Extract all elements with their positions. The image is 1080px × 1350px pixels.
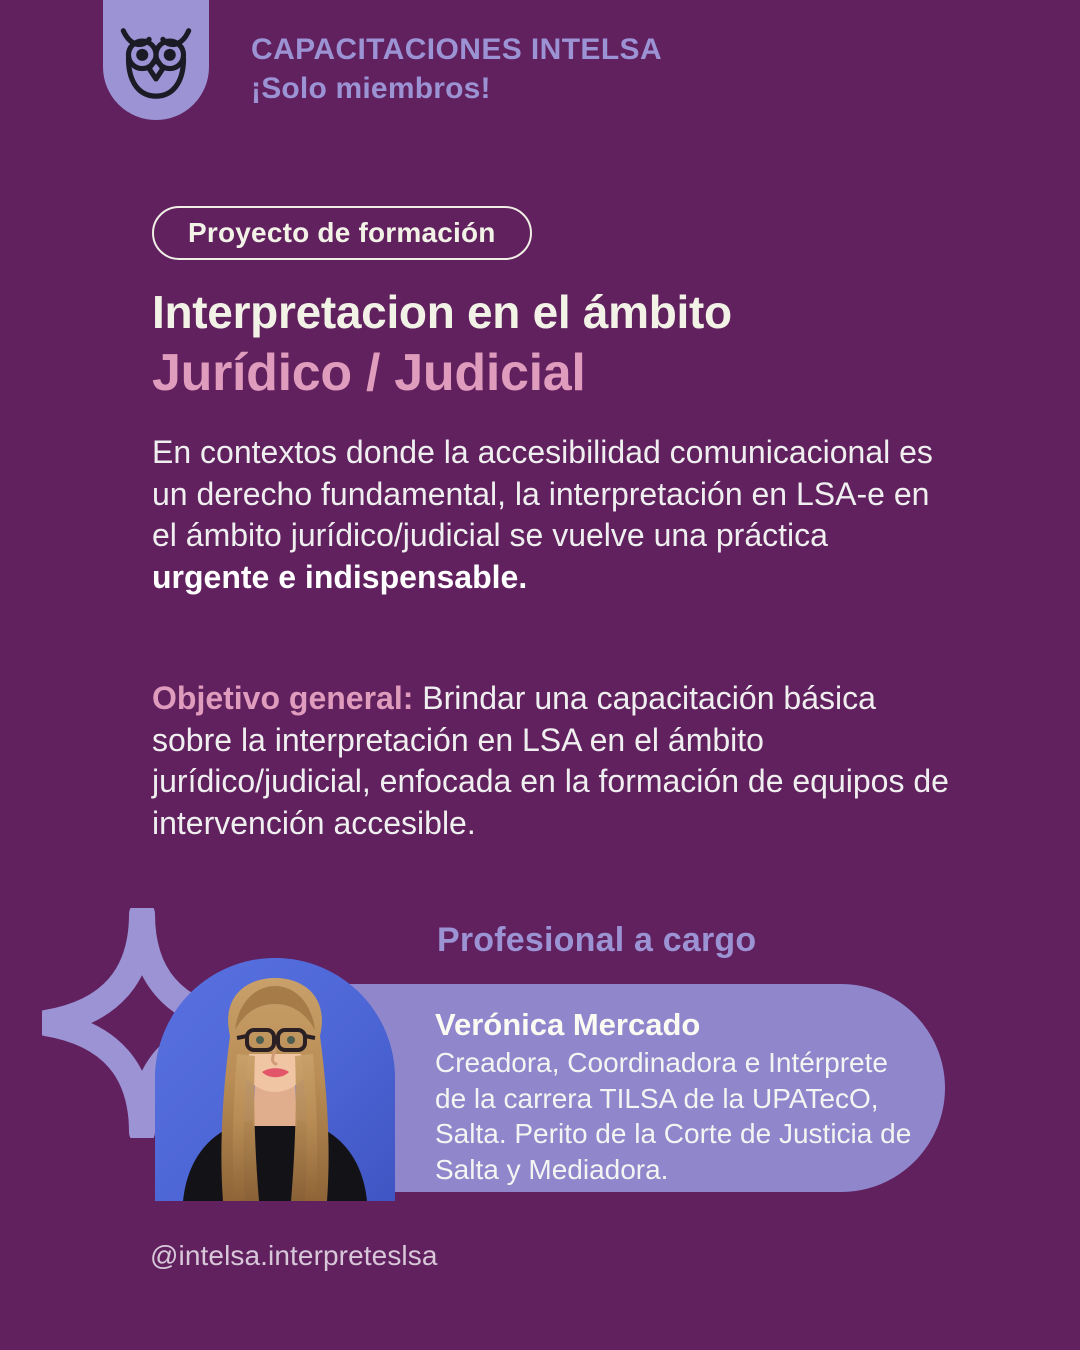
professional-name: Verónica Mercado [435, 1006, 925, 1043]
owl-badge-icon [103, 0, 209, 120]
page-title: Interpretacion en el ámbito Jurídico / J… [152, 288, 952, 402]
title-primary: Interpretacion en el ámbito [152, 288, 952, 338]
social-handle: @intelsa.interpreteslsa [150, 1240, 438, 1272]
title-accent: Jurídico / Judicial [152, 344, 952, 402]
professional-portrait-photo [155, 958, 395, 1201]
brand-subtitle: ¡Solo miembros! [251, 71, 662, 106]
objective-label: Objetivo general: [152, 680, 413, 716]
intro-emphasis: urgente e indispensable. [152, 559, 527, 595]
brand-header-text: CAPACITACIONES INTELSA ¡Solo miembros! [251, 0, 662, 107]
brand-header: CAPACITACIONES INTELSA ¡Solo miembros! [103, 0, 662, 120]
professional-info-card: Verónica Mercado Creadora, Coordinadora … [300, 984, 945, 1192]
intro-text: En contextos donde la accesibilidad comu… [152, 434, 933, 553]
project-type-badge: Proyecto de formación [152, 206, 532, 260]
intro-paragraph: En contextos donde la accesibilidad comu… [152, 432, 942, 598]
brand-title: CAPACITACIONES INTELSA [251, 32, 662, 67]
professional-section-heading: Profesional a cargo [437, 921, 756, 960]
professional-info-text: Verónica Mercado Creadora, Coordinadora … [435, 1006, 925, 1187]
objective-paragraph: Objetivo general: Brindar una capacitaci… [152, 678, 952, 844]
poster-canvas: CAPACITACIONES INTELSA ¡Solo miembros! P… [0, 0, 1080, 1350]
professional-bio: Creadora, Coordinadora e Intérprete de l… [435, 1045, 925, 1187]
